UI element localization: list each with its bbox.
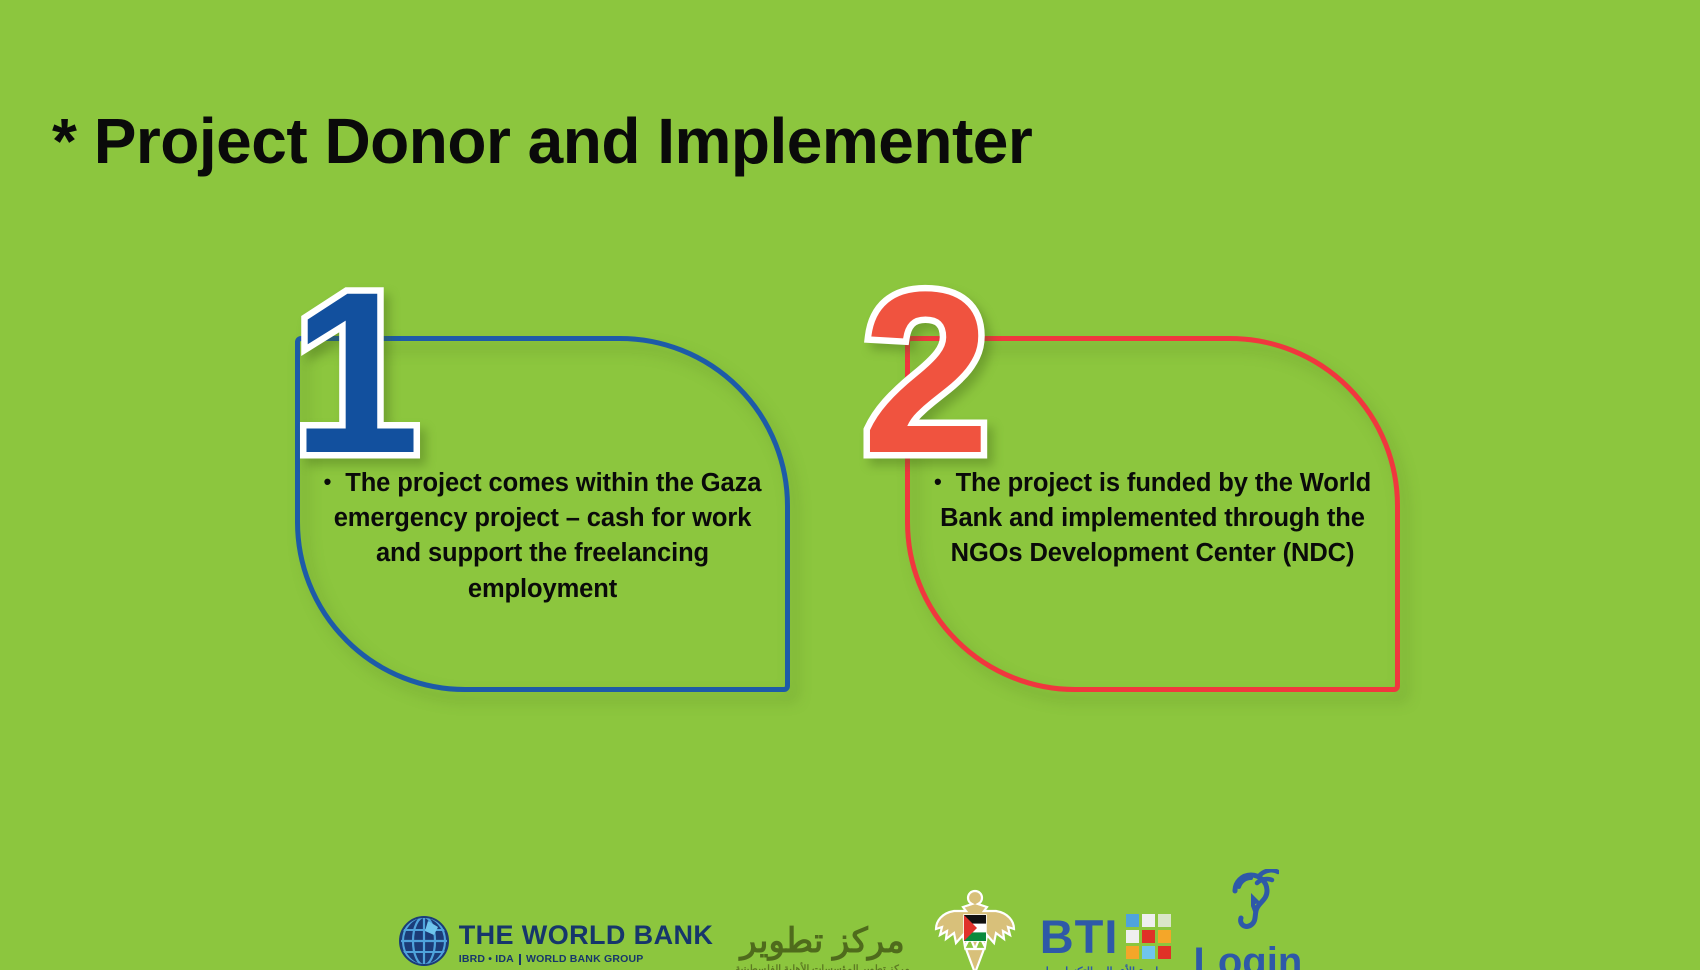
bti-arabic-subtitle: جامعة الأعمال والتكنولوجيا: [1046, 965, 1166, 970]
world-bank-wordmark: THE WORLD BANK IBRD • IDA WORLD BANK GRO…: [459, 922, 714, 965]
world-bank-group: WORLD BANK GROUP: [526, 954, 644, 965]
callout-text-2: •The project is funded by the World Bank…: [919, 466, 1386, 572]
palestinian-eagle-icon: [932, 885, 1018, 970]
world-bank-ibrd-ida: IBRD • IDA: [459, 954, 514, 965]
tatweer-arabic-subtitle: مركز تطوير المؤسسات الأهلية الفلسطينية: [735, 964, 909, 970]
bti-logo: BTI جامعة الأعمال والتكنولوجيا: [1040, 913, 1172, 970]
world-bank-logo: THE WORLD BANK IBRD • IDA WORLD BANK GRO…: [398, 915, 714, 970]
ear-cursor-icon: [1217, 869, 1279, 940]
divider: [519, 954, 521, 965]
callout-number-badge-2: 2: [862, 258, 986, 488]
bti-wordmark-row: BTI: [1040, 913, 1172, 960]
slide-canvas: * Project Donor and Implementer •The pro…: [0, 0, 1700, 970]
globe-icon: [398, 915, 450, 970]
tatweer-center-logo: مركز تطوير مركز تطوير المؤسسات الأهلية ا…: [735, 924, 909, 970]
callout-body-2: The project is funded by the World Bank …: [940, 469, 1371, 567]
world-bank-subtitle: IBRD • IDA WORLD BANK GROUP: [459, 954, 714, 965]
footer-logo-strip: THE WORLD BANK IBRD • IDA WORLD BANK GRO…: [0, 872, 1700, 970]
world-bank-name: THE WORLD BANK: [459, 922, 714, 949]
tatweer-arabic-wordmark: مركز تطوير: [740, 924, 905, 958]
login-wordmark: Login: [1193, 942, 1302, 970]
page-title: * Project Donor and Implementer: [52, 108, 1032, 175]
bti-wordmark: BTI: [1040, 913, 1119, 960]
bti-squares-icon: [1126, 914, 1171, 959]
login-logo: Login: [1193, 869, 1302, 970]
callout-number-badge-1: 1: [292, 258, 416, 488]
palestine-emblem-logo: [932, 885, 1018, 970]
